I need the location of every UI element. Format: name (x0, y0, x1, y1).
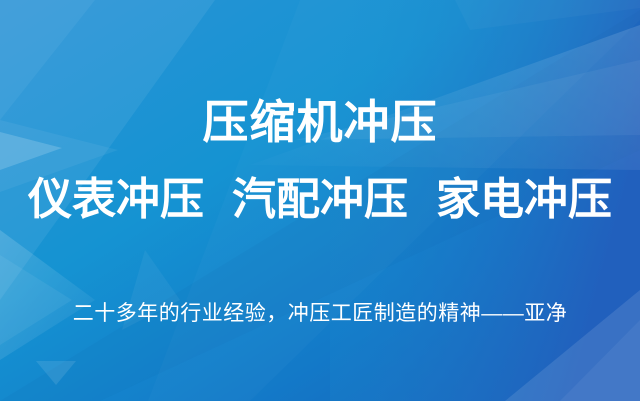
promo-banner: 压缩机冲压 仪表冲压汽配冲压家电冲压 二十多年的行业经验，冲压工匠制造的精神——… (0, 0, 640, 401)
banner-tagline: 二十多年的行业经验，冲压工匠制造的精神——亚净 (0, 303, 640, 324)
subtitle-item-3: 家电冲压 (436, 178, 612, 222)
banner-content: 压缩机冲压 仪表冲压汽配冲压家电冲压 二十多年的行业经验，冲压工匠制造的精神——… (0, 0, 640, 401)
subtitle-item-2: 汽配冲压 (232, 178, 408, 222)
banner-title: 压缩机冲压 (0, 99, 640, 145)
subtitle-item-1: 仪表冲压 (28, 178, 204, 222)
banner-subtitle-row: 仪表冲压汽配冲压家电冲压 (0, 178, 640, 222)
